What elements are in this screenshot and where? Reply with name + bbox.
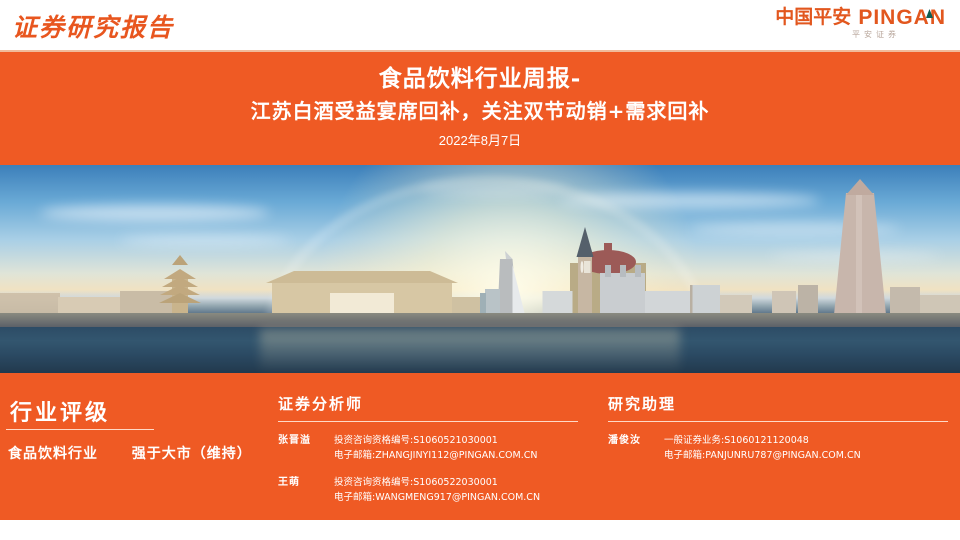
industry-rating-heading: 行业评级 xyxy=(10,395,110,427)
analyst-qualification-row: 张晋溢 投资咨询资格编号:S1060521030001 xyxy=(278,433,578,448)
analyst-qualification: 投资咨询资格编号:S1060521030001 xyxy=(334,434,498,448)
logo-english-label: PINGAN xyxy=(858,6,946,29)
analyst-qualification: 投资咨询资格编号:S1060522030001 xyxy=(334,476,498,490)
analyst-entry: 王萌 投资咨询资格编号:S1060522030001 电子邮箱:WANGMENG… xyxy=(278,475,578,506)
assistants-heading: 研究助理 xyxy=(608,393,948,414)
report-type-label: 证券研究报告 xyxy=(12,8,174,44)
industry-rating-row: 食品饮料行业 强于大市（维持） xyxy=(8,443,252,463)
assistants-column: 研究助理 潘俊汝 一般证券业务:S1060121120048 电子邮箱:PANJ… xyxy=(608,393,948,464)
analyst-email-row: 电子邮箱:ZHANGJINYI112@PINGAN.COM.CN xyxy=(278,448,578,463)
pingan-logo: 中国平安 PINGAN 平安证券 xyxy=(775,7,946,47)
assistant-name: 潘俊汝 xyxy=(608,433,664,448)
analyst-email[interactable]: 电子邮箱:WANGMENG917@PINGAN.COM.CN xyxy=(334,491,540,505)
page-footer xyxy=(0,520,960,540)
embankment xyxy=(0,313,960,327)
report-title-sub: 江苏白酒受益宴席回补，关注双节动销+需求回补 xyxy=(0,99,960,123)
logo-subtitle: 平安证券 xyxy=(852,31,900,39)
assistant-qualification: 一般证券业务:S1060121120048 xyxy=(664,434,809,448)
report-date: 2022年8月7日 xyxy=(0,130,960,149)
analyst-name: 王萌 xyxy=(278,475,334,490)
analyst-entry: 张晋溢 投资咨询资格编号:S1060521030001 电子邮箱:ZHANGJI… xyxy=(278,433,578,464)
report-title-main: 食品饮料行业周报- xyxy=(0,52,960,93)
assistants-divider xyxy=(608,421,948,422)
cityscape-hero-image xyxy=(0,165,960,373)
water-reflection xyxy=(260,329,680,371)
analyst-email-row: 电子邮箱:WANGMENG917@PINGAN.COM.CN xyxy=(278,490,578,505)
page-header: 证券研究报告 中国平安 PINGAN 平安证券 xyxy=(0,0,960,52)
assistant-entry: 潘俊汝 一般证券业务:S1060121120048 电子邮箱:PANJUNRU7… xyxy=(608,433,948,464)
assistant-qualification-row: 潘俊汝 一般证券业务:S1060121120048 xyxy=(608,433,948,448)
info-band: 行业评级 食品饮料行业 强于大市（维持） 证券分析师 张晋溢 投资咨询资格编号:… xyxy=(0,373,960,520)
analyst-qualification-row: 王萌 投资咨询资格编号:S1060522030001 xyxy=(278,475,578,490)
logo-chinese-text: 中国平安 xyxy=(775,8,851,27)
assistant-email-row: 电子邮箱:PANJUNRU787@PINGAN.COM.CN xyxy=(608,448,948,463)
logo-english-text: PINGAN xyxy=(858,7,946,28)
analysts-divider xyxy=(278,421,578,422)
logo-wordmark-row: 中国平安 PINGAN xyxy=(775,7,946,28)
analysts-column: 证券分析师 张晋溢 投资咨询资格编号:S1060521030001 电子邮箱:Z… xyxy=(278,393,578,505)
title-banner: 食品饮料行业周报- 江苏白酒受益宴席回补，关注双节动销+需求回补 2022年8月… xyxy=(0,52,960,165)
industry-rating-value: 强于大市（维持） xyxy=(132,446,252,462)
industry-rating-divider xyxy=(6,429,154,430)
analyst-email[interactable]: 电子邮箱:ZHANGJINYI112@PINGAN.COM.CN xyxy=(334,449,537,463)
assistant-email[interactable]: 电子邮箱:PANJUNRU787@PINGAN.COM.CN xyxy=(664,449,861,463)
analyst-name: 张晋溢 xyxy=(278,433,334,448)
industry-name: 食品饮料行业 xyxy=(8,446,98,462)
analysts-heading: 证券分析师 xyxy=(278,393,578,414)
report-cover-page: 证券研究报告 中国平安 PINGAN 平安证券 食品饮料行业周报- 江苏白酒受益… xyxy=(0,0,960,540)
